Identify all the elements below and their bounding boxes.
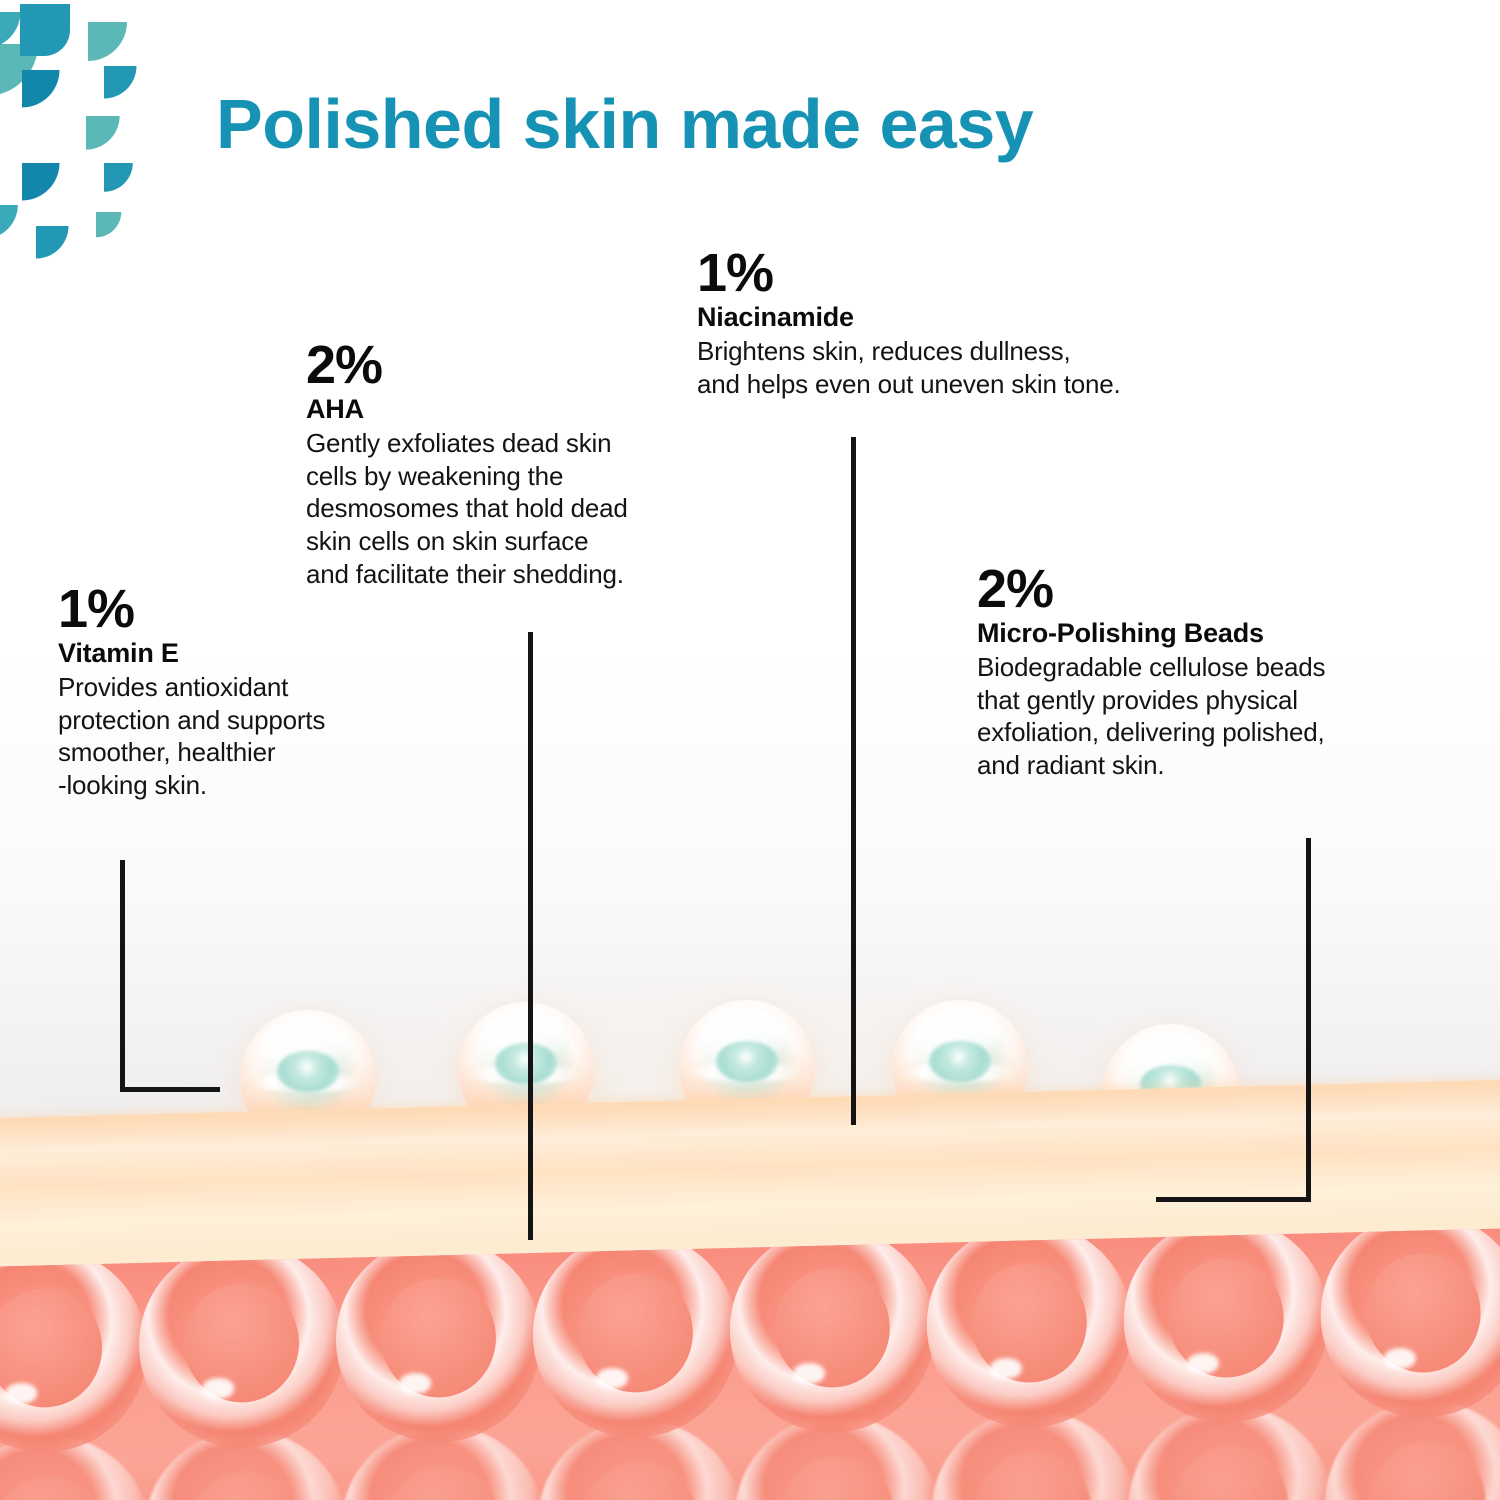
dot-pattern-logo bbox=[0, 0, 150, 265]
ingredient-name: Niacinamide bbox=[697, 302, 1297, 334]
percent-label: 2% bbox=[977, 562, 1477, 616]
connector-line-aha bbox=[528, 632, 533, 1240]
connector-line-niacinamide bbox=[851, 437, 856, 1125]
ingredient-description: Gently exfoliates dead skin cells by wea… bbox=[306, 427, 766, 591]
skin-cell bbox=[924, 1227, 1134, 1431]
skin-cell bbox=[727, 1227, 937, 1435]
skin-cell bbox=[530, 1230, 740, 1440]
ingredient-name: Vitamin E bbox=[58, 638, 478, 670]
connector-line-beads bbox=[1156, 1197, 1311, 1202]
page-title: Polished skin made easy bbox=[216, 84, 1033, 164]
connector-line-vitamin-e bbox=[120, 860, 125, 1092]
ingredient-description: Brightens skin, reduces dullness, and he… bbox=[697, 335, 1297, 401]
bead-core bbox=[277, 1051, 340, 1092]
bead-core bbox=[495, 1043, 558, 1084]
ingredient-description: Provides antioxidant protection and supp… bbox=[58, 671, 478, 802]
skin-cell bbox=[0, 1245, 150, 1455]
callout-vitamin-e: 1% Vitamin E Provides antioxidant protec… bbox=[58, 582, 478, 802]
percent-label: 1% bbox=[697, 246, 1297, 300]
bead-core bbox=[716, 1041, 779, 1082]
skin-cell-row bbox=[0, 1227, 1500, 1455]
bead-core bbox=[929, 1041, 992, 1082]
callout-niacinamide: 1% Niacinamide Brightens skin, reduces d… bbox=[697, 246, 1297, 400]
logo-svg bbox=[0, 0, 150, 265]
infographic-canvas: Polished skin made easy 1% Vitamin E Pro… bbox=[0, 0, 1500, 1500]
callout-micro-polishing-beads: 2% Micro-Polishing Beads Biodegradable c… bbox=[977, 562, 1477, 782]
connector-line-vitamin-e bbox=[120, 1087, 220, 1092]
connector-line-beads bbox=[1306, 838, 1311, 1202]
skin-cell-layer bbox=[0, 1227, 1500, 1500]
skin-cell bbox=[1121, 1227, 1331, 1426]
ingredient-name: Micro-Polishing Beads bbox=[977, 618, 1477, 650]
ingredient-description: Biodegradable cellulose beads that gentl… bbox=[977, 651, 1477, 782]
skin-cell bbox=[333, 1235, 543, 1445]
skin-cell bbox=[136, 1240, 346, 1450]
skin-cell bbox=[1318, 1227, 1500, 1421]
